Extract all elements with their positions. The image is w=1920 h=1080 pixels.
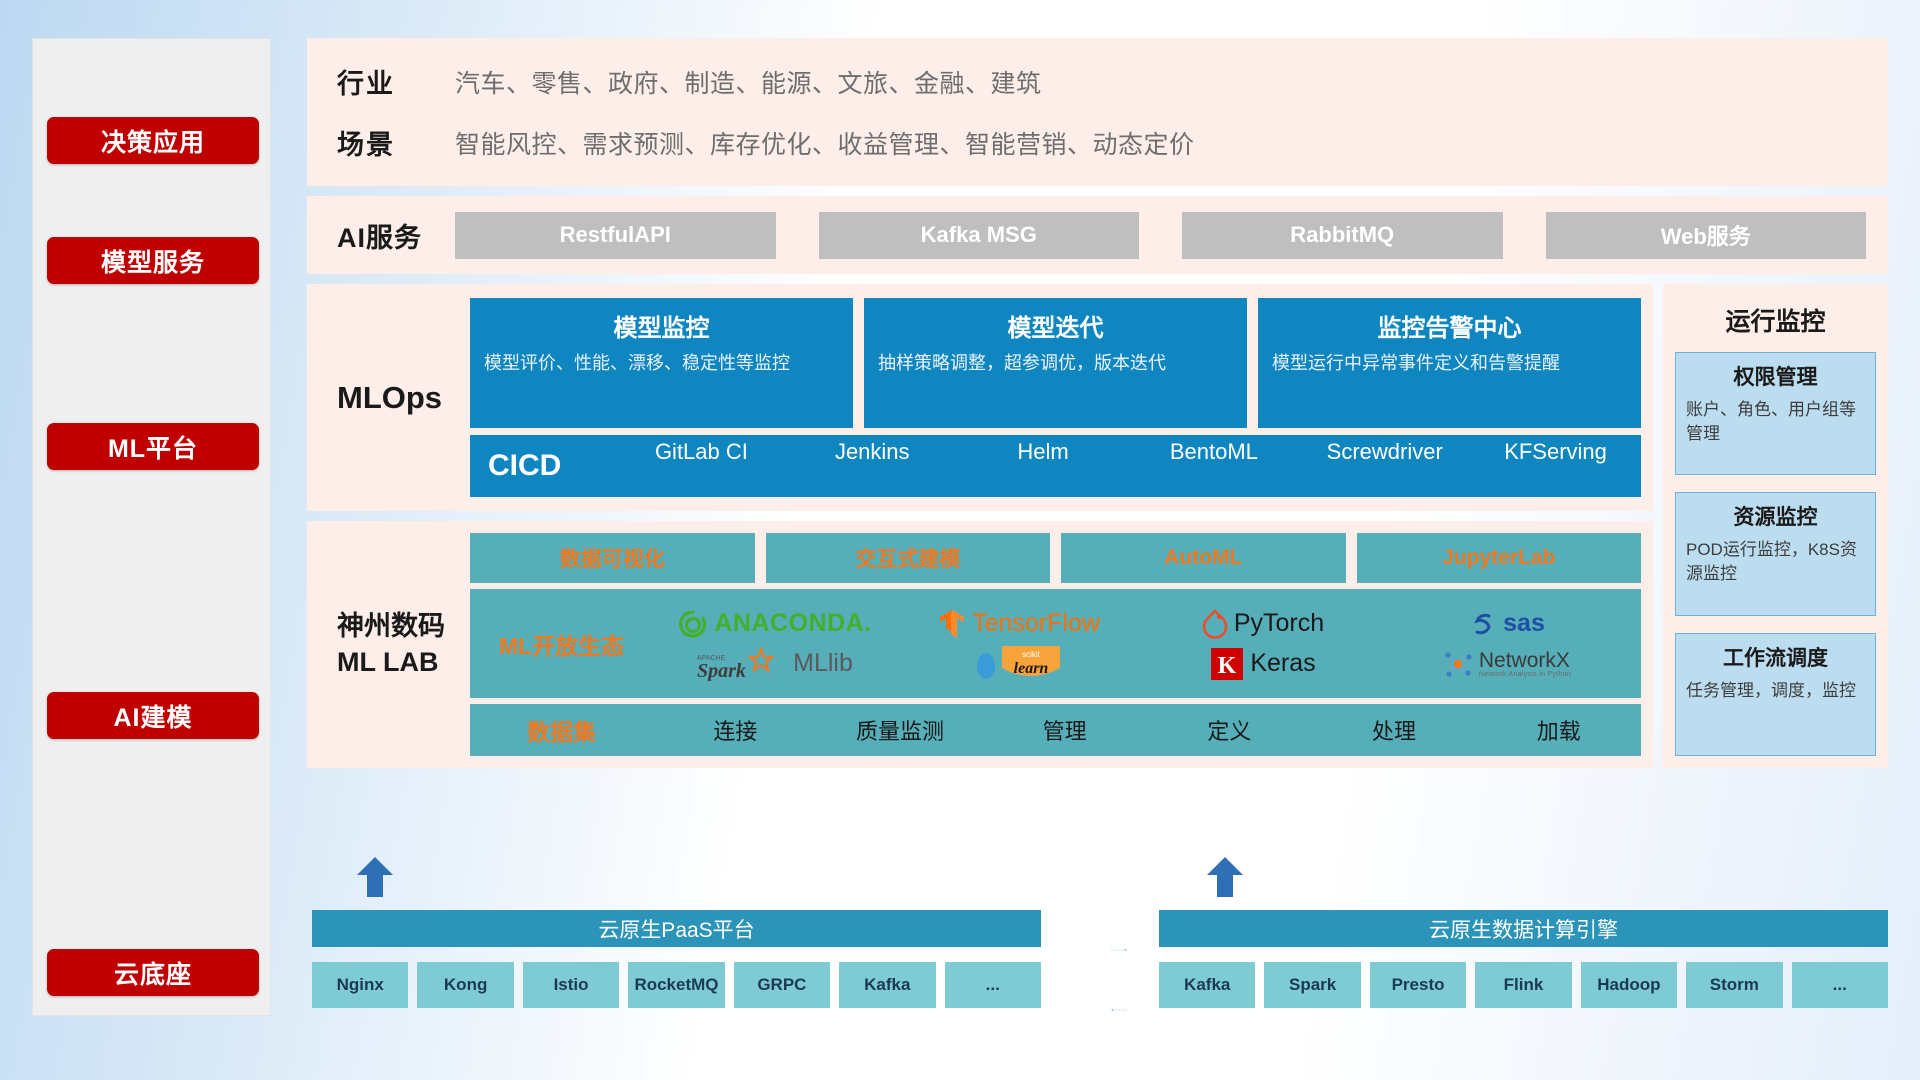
pytorch-logo-text: PyTorch <box>1234 609 1324 638</box>
cloud-compute-group: 云原生数据计算引擎 Kafka Spark Presto Flink Hadoo… <box>1159 910 1888 1008</box>
mlops-card-desc: 模型评价、性能、漂移、稳定性等监控 <box>484 351 839 376</box>
mlops-card-desc: 抽样策略调整，超参调优，版本迭代 <box>878 351 1233 376</box>
ai-service-chip-restfulapi[interactable]: RestfulAPI <box>455 212 776 259</box>
spark-icon: APACHE Spark <box>697 647 787 681</box>
tensorflow-logo: TensorFlow <box>938 608 1100 640</box>
monitoring-card-desc: 任务管理，调度，监控 <box>1686 679 1865 703</box>
anaconda-logo-text: ANACONDA. <box>714 609 871 638</box>
cicd-item-screwdriver[interactable]: Screwdriver <box>1299 438 1470 494</box>
tensorflow-icon <box>938 608 966 640</box>
keras-logo-text: Keras <box>1250 649 1315 678</box>
scenario-row: 场景 智能风控、需求预测、库存优化、收益管理、智能营销、动态定价 <box>337 123 1195 162</box>
layer-chip-cloud-foundation[interactable]: 云底座 <box>47 949 259 996</box>
mlops-band: MLOps 模型监控 模型评价、性能、漂移、稳定性等监控 模型迭代 抽样策略调整… <box>307 284 1653 511</box>
cloud-compute-header: 云原生数据计算引擎 <box>1159 910 1888 947</box>
cloud-chip-kong[interactable]: Kong <box>417 962 513 1008</box>
svg-text:scikit: scikit <box>1022 650 1041 659</box>
mlops-card-alert-center[interactable]: 监控告警中心 模型运行中异常事件定义和告警提醒 <box>1258 298 1641 428</box>
cloud-chip-flink[interactable]: Flink <box>1475 962 1571 1008</box>
cicd-items: GitLab CI Jenkins Helm BentoML Screwdriv… <box>616 438 1641 494</box>
cloud-chip-nginx[interactable]: Nginx <box>312 962 408 1008</box>
cloud-chip-kafka[interactable]: Kafka <box>839 962 935 1008</box>
monitoring-title: 运行监控 <box>1675 302 1876 338</box>
ai-service-items: RestfulAPI Kafka MSG RabbitMQ Web服务 <box>455 212 1888 259</box>
networkx-logo: NetworkX Network Analysis in Python <box>1443 649 1571 679</box>
networkx-logo-text: NetworkX <box>1479 650 1571 671</box>
monitoring-cards: 权限管理 账户、角色、用户组等管理 资源监控 POD运行监控，K8S资源监控 工… <box>1675 352 1876 756</box>
cloud-compute-chips: Kafka Spark Presto Flink Hadoop Storm ..… <box>1159 962 1888 1008</box>
monitoring-card-desc: 账户、角色、用户组等管理 <box>1686 398 1865 446</box>
cloud-paas-group: 云原生PaaS平台 Nginx Kong Istio RocketMQ GRPC… <box>312 910 1041 1008</box>
dataset-item-quality-monitor[interactable]: 质量监测 <box>818 714 983 746</box>
monitoring-column: 运行监控 权限管理 账户、角色、用户组等管理 资源监控 POD运行监控，K8S资… <box>1663 284 1888 778</box>
ml-lab-label-line1: 神州数码 <box>337 609 445 644</box>
cloud-paas-header: 云原生PaaS平台 <box>312 910 1041 947</box>
ml-ecosystem-label: ML开放生态 <box>470 627 653 661</box>
monitoring-card-resource[interactable]: 资源监控 POD运行监控，K8S资源监控 <box>1675 492 1876 615</box>
ml-ecosystem-row: ML开放生态 ANACONDA. <box>470 589 1641 699</box>
cloud-chip-kafka-right[interactable]: Kafka <box>1159 962 1255 1008</box>
ml-ecosystem-logos: ANACONDA. TensorFlow <box>653 604 1641 684</box>
industry-label: 行业 <box>337 62 455 101</box>
ml-lab-band: 神州数码 ML LAB 数据可视化 交互式建模 AutoML JupyterLa… <box>307 521 1653 768</box>
layer-chip-label: 云底座 <box>114 955 192 991</box>
scikit-learn-icon: scikit learn <box>998 644 1064 684</box>
cicd-item-helm[interactable]: Helm <box>958 438 1129 494</box>
industry-row: 行业 汽车、零售、政府、制造、能源、文旅、金融、建筑 <box>337 62 1195 101</box>
anaconda-icon <box>678 609 708 639</box>
tensorflow-logo-text: TensorFlow <box>972 609 1100 638</box>
cloud-chip-grpc[interactable]: GRPC <box>734 962 830 1008</box>
spark-mllib-logo-text: MLlib <box>793 649 853 678</box>
sas-logo: sas <box>1469 609 1545 638</box>
dataset-item-load[interactable]: 加载 <box>1476 714 1641 746</box>
ai-service-band: AI服务 RestfulAPI Kafka MSG RabbitMQ Web服务 <box>307 196 1888 274</box>
layer-chip-label: ML平台 <box>108 429 198 465</box>
pytorch-icon <box>1202 609 1228 639</box>
industry-scenario-band: 行业 汽车、零售、政府、制造、能源、文旅、金融、建筑 场景 智能风控、需求预测、… <box>307 38 1888 186</box>
ai-service-label: AI服务 <box>337 216 455 255</box>
layer-chip-label: 决策应用 <box>101 123 205 159</box>
keras-logo: K Keras <box>1210 647 1315 681</box>
cicd-item-bentoml[interactable]: BentoML <box>1128 438 1299 494</box>
layer-chip-decision-app[interactable]: 决策应用 <box>47 117 259 164</box>
cloud-chip-hadoop[interactable]: Hadoop <box>1581 962 1677 1008</box>
cicd-item-jenkins[interactable]: Jenkins <box>787 438 958 494</box>
mlops-card-model-monitoring[interactable]: 模型监控 模型评价、性能、漂移、稳定性等监控 <box>470 298 853 428</box>
dataset-label: 数据集 <box>470 713 653 747</box>
mlops-label: MLOps <box>337 298 470 497</box>
ai-service-chip-web-service[interactable]: Web服务 <box>1546 212 1867 259</box>
mlops-card-title: 模型迭代 <box>878 308 1233 343</box>
cloud-chip-more-right[interactable]: ... <box>1792 962 1888 1008</box>
cicd-title: CICD <box>488 449 616 483</box>
main-stack: 行业 汽车、零售、政府、制造、能源、文旅、金融、建筑 场景 智能风控、需求预测、… <box>307 38 1888 778</box>
cloud-chip-presto[interactable]: Presto <box>1370 962 1466 1008</box>
layer-chip-ai-modeling[interactable]: AI建模 <box>47 692 259 739</box>
keras-icon: K <box>1210 647 1244 681</box>
dataset-item-connect[interactable]: 连接 <box>653 714 818 746</box>
ml-lab-label-line2: ML LAB <box>337 645 445 680</box>
dataset-item-manage[interactable]: 管理 <box>982 714 1147 746</box>
mlops-card-desc: 模型运行中异常事件定义和告警提醒 <box>1272 351 1627 376</box>
cloud-chip-rocketmq[interactable]: RocketMQ <box>628 962 724 1008</box>
cloud-chip-storm[interactable]: Storm <box>1686 962 1782 1008</box>
layer-chip-model-service[interactable]: 模型服务 <box>47 237 259 284</box>
platform-column: MLOps 模型监控 模型评价、性能、漂移、稳定性等监控 模型迭代 抽样策略调整… <box>307 284 1653 778</box>
mlops-card-title: 监控告警中心 <box>1272 308 1627 343</box>
ml-lab-label: 神州数码 ML LAB <box>337 533 470 756</box>
cicd-item-gitlab-ci[interactable]: GitLab CI <box>616 438 787 494</box>
dataset-row: 数据集 连接 质量监测 管理 定义 处理 加载 <box>470 704 1641 756</box>
svg-text:K: K <box>1218 653 1237 679</box>
middle-zone: MLOps 模型监控 模型评价、性能、漂移、稳定性等监控 模型迭代 抽样策略调整… <box>307 284 1888 778</box>
ai-service-chip-kafka-msg[interactable]: Kafka MSG <box>819 212 1140 259</box>
ai-service-chip-rabbitmq[interactable]: RabbitMQ <box>1182 212 1503 259</box>
mlops-card-model-iteration[interactable]: 模型迭代 抽样策略调整，超参调优，版本迭代 <box>864 298 1247 428</box>
layer-chip-ml-platform[interactable]: ML平台 <box>47 423 259 470</box>
anaconda-logo: ANACONDA. <box>678 609 871 639</box>
dataset-items: 连接 质量监测 管理 定义 处理 加载 <box>653 714 1641 746</box>
scenario-label: 场景 <box>337 123 455 162</box>
cloud-foundation-zone: 云原生PaaS平台 Nginx Kong Istio RocketMQ GRPC… <box>307 888 1888 1038</box>
dataset-item-process[interactable]: 处理 <box>1312 714 1477 746</box>
spark-mllib-logo: APACHE Spark MLlib <box>697 647 853 681</box>
sas-logo-text: sas <box>1503 609 1545 638</box>
ml-lab-tabs: 数据可视化 交互式建模 AutoML JupyterLab <box>470 533 1641 583</box>
networkx-icon <box>1443 649 1473 679</box>
scenario-value: 智能风控、需求预测、库存优化、收益管理、智能营销、动态定价 <box>455 125 1195 161</box>
mlops-card-title: 模型监控 <box>484 308 839 343</box>
ml-lab-tab-data-visualization[interactable]: 数据可视化 <box>470 533 755 583</box>
ml-lab-tab-jupyterlab[interactable]: JupyterLab <box>1357 533 1642 583</box>
dataset-item-define[interactable]: 定义 <box>1147 714 1312 746</box>
cicd-item-kfserving[interactable]: KFServing <box>1470 438 1641 494</box>
networkx-logo-subtext: Network Analysis in Python <box>1479 671 1571 678</box>
cloud-paas-chips: Nginx Kong Istio RocketMQ GRPC Kafka ... <box>312 962 1041 1008</box>
svg-text:learn: learn <box>1014 660 1049 677</box>
pytorch-logo: PyTorch <box>1202 609 1324 639</box>
monitoring-card-workflow[interactable]: 工作流调度 任务管理，调度，监控 <box>1675 633 1876 756</box>
monitoring-card-title: 工作流调度 <box>1686 642 1865 672</box>
monitoring-card-title: 资源监控 <box>1686 501 1865 531</box>
monitoring-card-title: 权限管理 <box>1686 361 1865 391</box>
sas-icon <box>1469 610 1497 638</box>
cloud-chip-more-left[interactable]: ... <box>945 962 1041 1008</box>
cloud-chip-istio[interactable]: Istio <box>523 962 619 1008</box>
layer-chip-label: AI建模 <box>113 698 192 734</box>
cloud-chip-spark[interactable]: Spark <box>1264 962 1360 1008</box>
industry-value: 汽车、零售、政府、制造、能源、文旅、金融、建筑 <box>455 64 1042 100</box>
layer-chip-label: 模型服务 <box>101 243 205 279</box>
cicd-row: CICD GitLab CI Jenkins Helm BentoML Scre… <box>470 435 1641 497</box>
scikit-learn-logo: scikit learn <box>974 644 1064 684</box>
layer-rail: 决策应用 模型服务 ML平台 AI建模 云底座 <box>32 38 271 1016</box>
monitoring-rail: 运行监控 权限管理 账户、角色、用户组等管理 资源监控 POD运行监控，K8S资… <box>1663 284 1888 768</box>
svg-text:Spark: Spark <box>697 660 746 681</box>
monitoring-card-desc: POD运行监控，K8S资源监控 <box>1686 538 1865 586</box>
monitoring-card-permission[interactable]: 权限管理 账户、角色、用户组等管理 <box>1675 352 1876 475</box>
ml-lab-tab-interactive-modeling[interactable]: 交互式建模 <box>766 533 1051 583</box>
ml-lab-tab-automl[interactable]: AutoML <box>1061 533 1346 583</box>
architecture-diagram: 决策应用 模型服务 ML平台 AI建模 云底座 行业 汽车、零售、政府、制造、能… <box>0 0 1920 1080</box>
mlops-cards: 模型监控 模型评价、性能、漂移、稳定性等监控 模型迭代 抽样策略调整，超参调优，… <box>470 298 1641 428</box>
